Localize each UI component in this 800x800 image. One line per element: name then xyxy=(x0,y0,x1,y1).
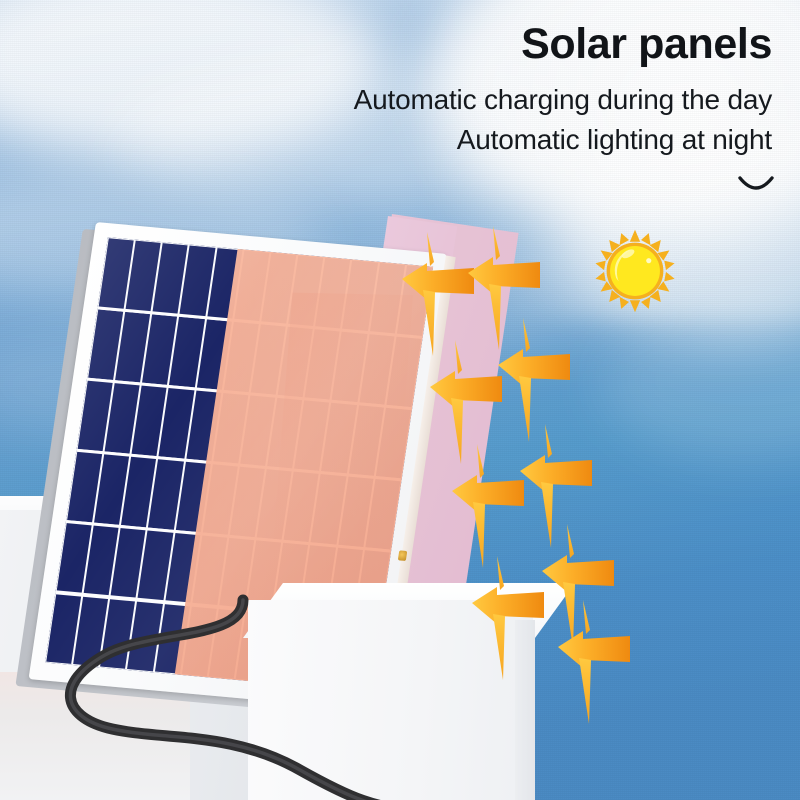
banner-canvas: Solar panels Automatic charging during t… xyxy=(0,0,800,800)
sun-ray-arrow-icon xyxy=(450,444,528,570)
sun-icon xyxy=(592,228,678,314)
subtitle-line-1: Automatic charging during the day xyxy=(354,84,772,116)
page-title: Solar panels xyxy=(521,22,772,67)
sun-ray-arrow-icon xyxy=(470,556,548,682)
subtitle-line-2: Automatic lighting at night xyxy=(457,124,772,156)
sun-ray-arrow-icon xyxy=(556,600,634,726)
power-cable-icon xyxy=(0,480,460,800)
smile-curve-icon xyxy=(736,172,776,198)
